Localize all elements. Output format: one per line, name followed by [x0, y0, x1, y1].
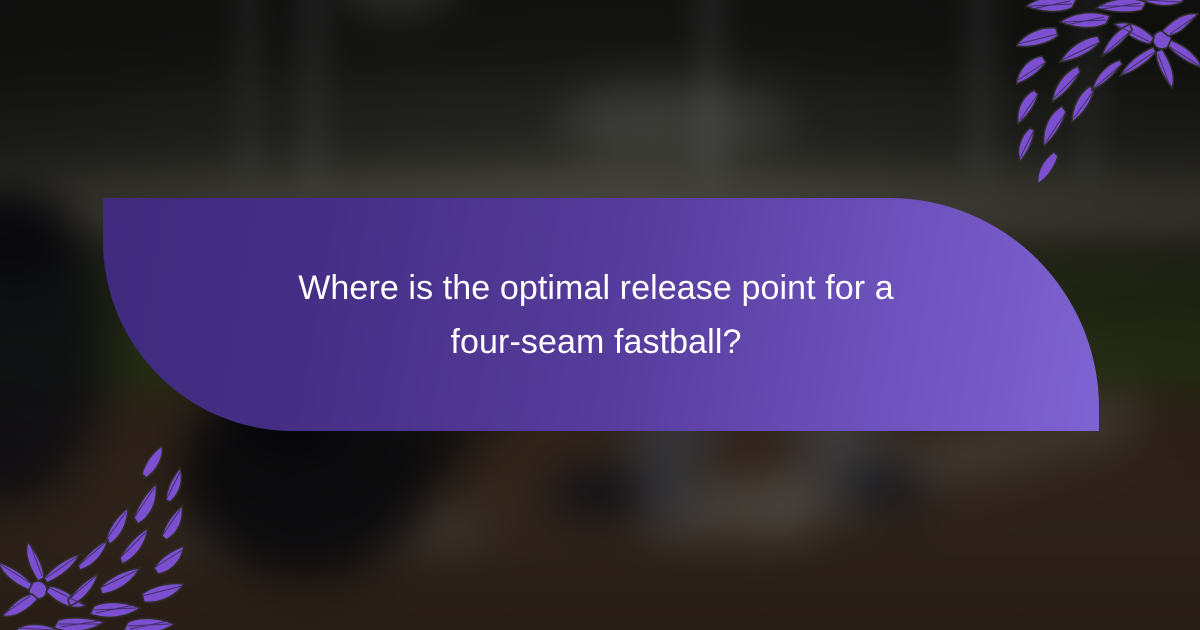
question-banner: Where is the optimal release point for a…	[103, 198, 1099, 431]
question-line-2: four-seam fastball?	[450, 315, 741, 369]
question-text-block: Where is the optimal release point for a…	[103, 198, 1099, 431]
question-line-1: Where is the optimal release point for a	[298, 261, 894, 315]
share-card: Where is the optimal release point for a…	[0, 0, 1200, 630]
